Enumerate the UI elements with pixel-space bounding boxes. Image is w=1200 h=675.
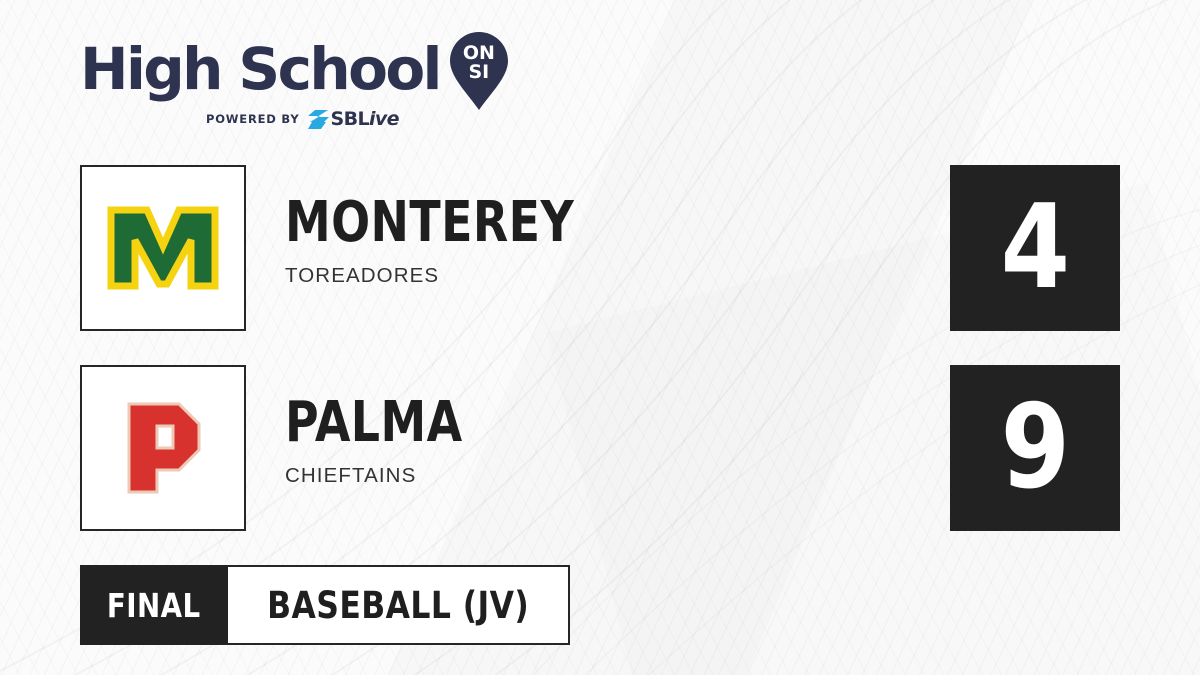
sport-label: BASEBALL (JV)	[267, 587, 529, 624]
palma-p-logo	[80, 365, 246, 531]
team-row: MONTEREY TOREADORES 4	[80, 165, 1120, 335]
team-identity: MONTEREY TOREADORES	[285, 195, 925, 287]
monterey-m-logo	[80, 165, 246, 331]
brand-lockup: High School ON SI POWERED BY SBLive	[80, 36, 520, 136]
team-mascot: TOREADORES	[285, 265, 925, 287]
team-row: PALMA CHIEFTAINS 9	[80, 365, 1120, 535]
location-pin-icon: ON SI	[450, 32, 508, 110]
powered-by-row: POWERED BY SBLive	[206, 108, 520, 130]
team-identity: PALMA CHIEFTAINS	[285, 395, 925, 487]
score-box: 9	[950, 365, 1120, 531]
status-badge: FINAL	[80, 565, 228, 645]
pin-text-si: SI	[450, 63, 508, 82]
team-name: MONTEREY	[285, 195, 810, 251]
status-badge-label: FINAL	[107, 589, 201, 622]
team-name: PALMA	[285, 395, 810, 451]
sblive-s-icon	[308, 110, 329, 129]
score-value: 4	[1000, 190, 1069, 306]
score-value: 9	[1000, 390, 1069, 506]
score-box: 4	[950, 165, 1120, 331]
game-status-bar: FINAL BASEBALL (JV)	[80, 565, 570, 645]
sblive-wordmark: SBLive	[330, 108, 398, 130]
sport-label-box: BASEBALL (JV)	[228, 565, 570, 645]
sblive-sbl: SBL	[330, 108, 368, 130]
brand-primary-row: High School ON SI	[80, 36, 520, 102]
sblive-logo: SBLive	[308, 108, 398, 130]
brand-wordmark: High School	[80, 40, 440, 98]
scoreboard-graphic: High School ON SI POWERED BY SBLive	[0, 0, 1200, 675]
sblive-ive: ive	[369, 108, 399, 130]
team-mascot: CHIEFTAINS	[285, 465, 925, 487]
powered-by-label: POWERED BY	[206, 112, 299, 126]
